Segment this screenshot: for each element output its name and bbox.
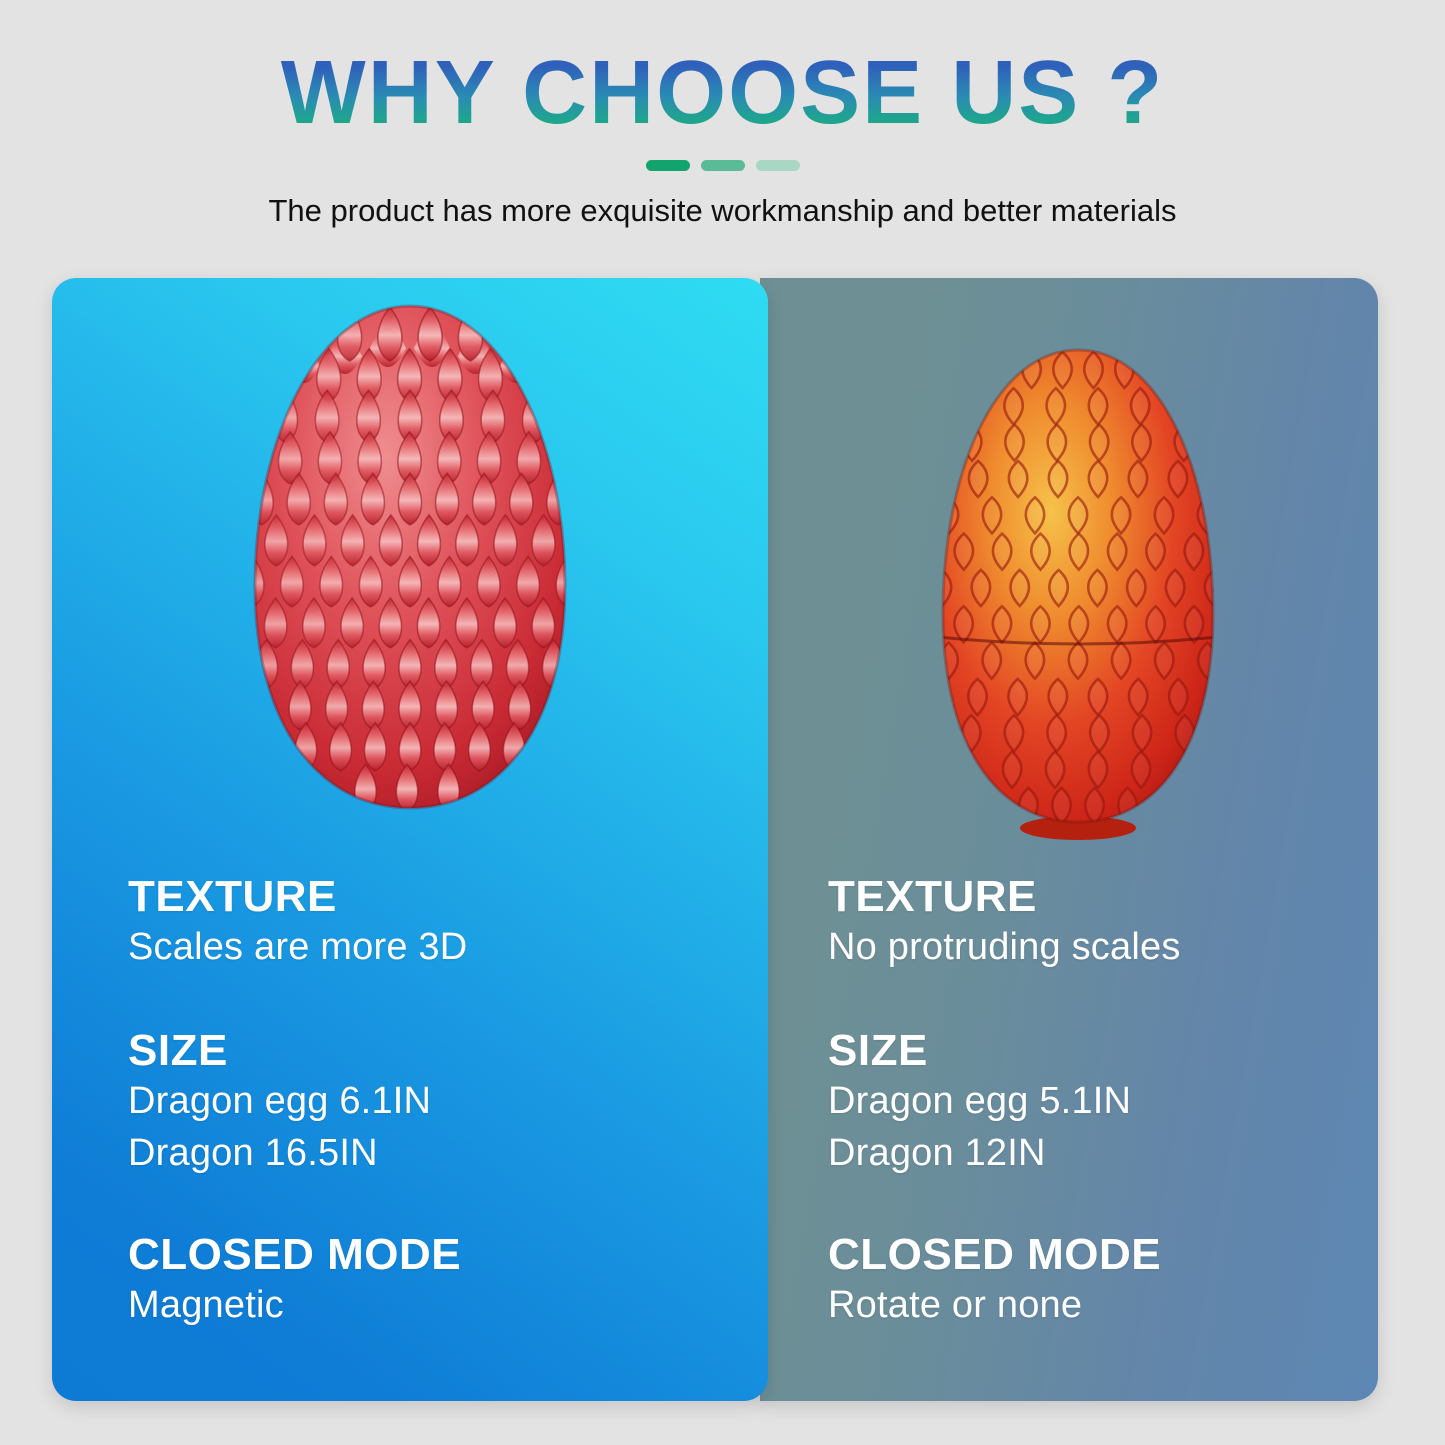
specs-theirs: TEXTURE No protruding scales SIZE Dragon…	[760, 872, 1378, 1332]
red-dragon-egg-flat-scales-icon	[908, 336, 1248, 856]
spec-block-texture: TEXTURE No protruding scales	[828, 872, 1378, 974]
specs-ours: TEXTURE Scales are more 3D SIZE Dragon e…	[52, 872, 768, 1332]
spec-line: Dragon egg 5.1IN	[828, 1075, 1378, 1127]
dash-divider	[0, 160, 1445, 171]
spec-heading: SIZE	[828, 1026, 1378, 1075]
spec-line: Scales are more 3D	[128, 921, 768, 973]
spec-block-closed-mode: CLOSED MODE Rotate or none	[828, 1230, 1378, 1332]
spec-block-closed-mode: CLOSED MODE Magnetic	[128, 1230, 768, 1332]
spec-block-texture: TEXTURE Scales are more 3D	[128, 872, 768, 974]
spec-line: Rotate or none	[828, 1279, 1378, 1331]
spec-block-size: SIZE Dragon egg 5.1IN Dragon 12IN	[828, 1026, 1378, 1180]
card-theirs[interactable]: TEXTURE No protruding scales SIZE Dragon…	[760, 278, 1378, 1401]
card-ours[interactable]: TEXTURE Scales are more 3D SIZE Dragon e…	[52, 278, 768, 1401]
spec-line: No protruding scales	[828, 921, 1378, 973]
spec-heading: SIZE	[128, 1026, 768, 1075]
dash-2-icon	[701, 160, 745, 171]
page-subtitle: The product has more exquisite workmansh…	[0, 193, 1445, 229]
egg-image-ours	[52, 284, 768, 856]
spec-line: Dragon 12IN	[828, 1127, 1378, 1179]
comparison-cards: TEXTURE Scales are more 3D SIZE Dragon e…	[52, 278, 1386, 1401]
spec-heading: CLOSED MODE	[128, 1230, 768, 1279]
dash-1-icon	[646, 160, 690, 171]
spec-block-size: SIZE Dragon egg 6.1IN Dragon 16.5IN	[128, 1026, 768, 1180]
red-dragon-egg-spiky-scales-icon	[210, 296, 610, 856]
spec-line: Dragon egg 6.1IN	[128, 1075, 768, 1127]
spec-heading: TEXTURE	[128, 872, 768, 921]
egg-image-theirs	[760, 308, 1378, 856]
page-title: WHY CHOOSE US ?	[281, 46, 1164, 141]
spec-line: Magnetic	[128, 1279, 768, 1331]
header: WHY CHOOSE US ? The product has more exq…	[0, 0, 1445, 229]
spec-heading: TEXTURE	[828, 872, 1378, 921]
dash-3-icon	[756, 160, 800, 171]
spec-line: Dragon 16.5IN	[128, 1127, 768, 1179]
spec-heading: CLOSED MODE	[828, 1230, 1378, 1279]
